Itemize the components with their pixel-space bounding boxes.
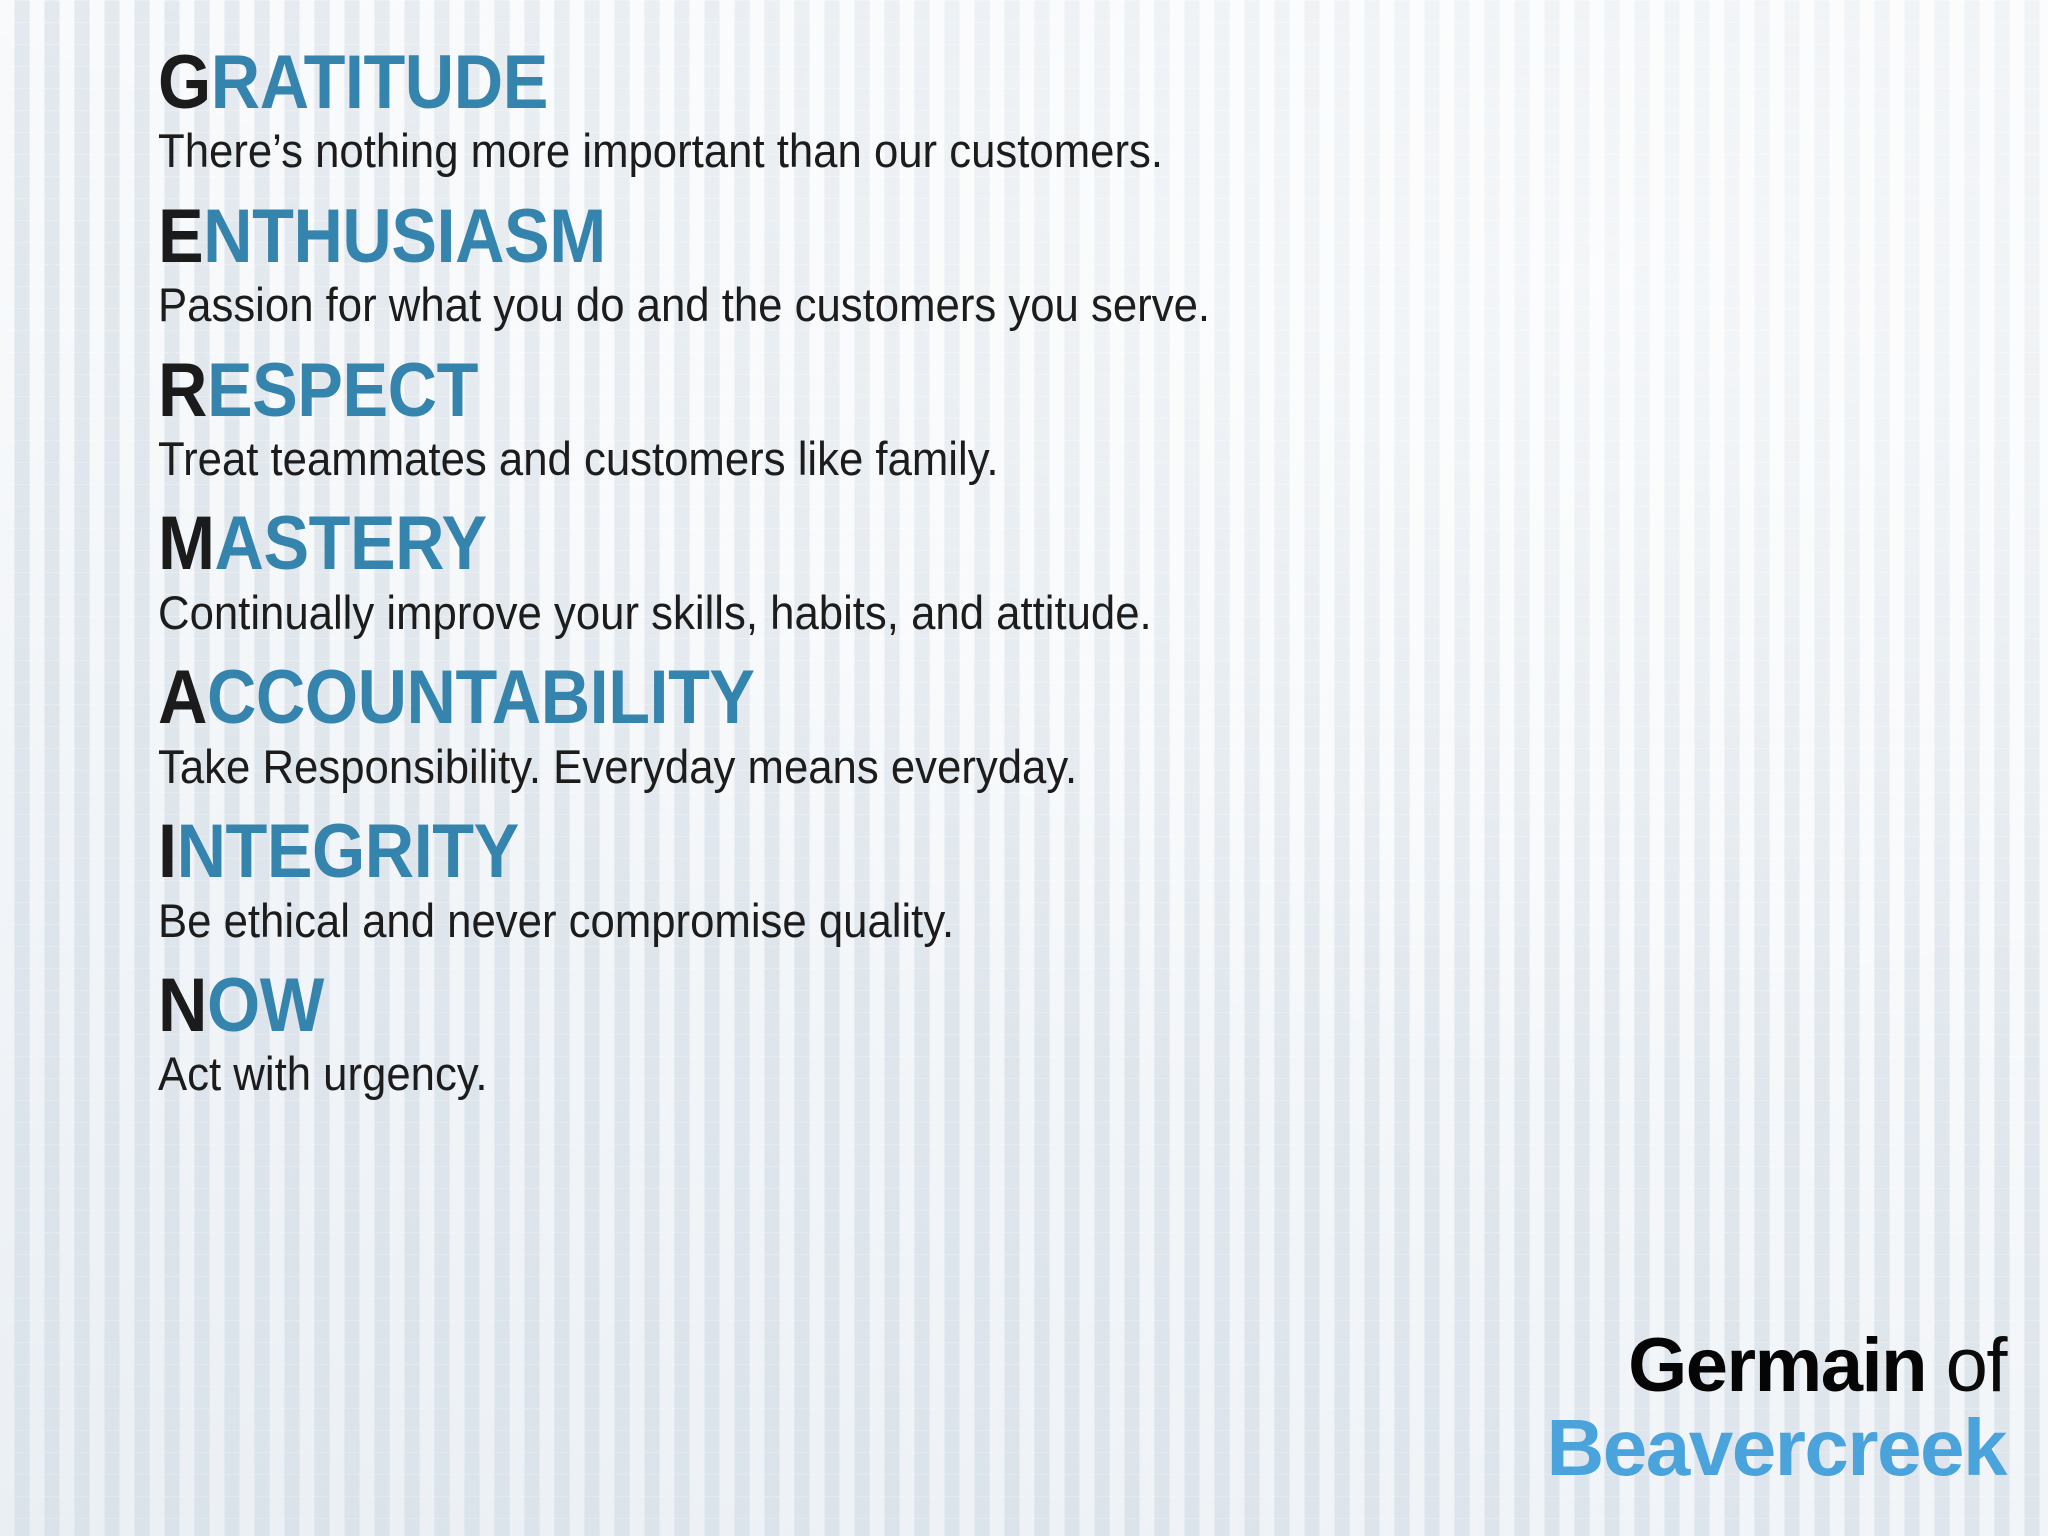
value-heading-now: NOW (158, 969, 1508, 1043)
logo-primary-line: Germain of (1547, 1328, 2006, 1404)
value-item-respect: RESPECT Treat teammates and customers li… (158, 354, 1658, 484)
logo-brand-name: Germain (1628, 1323, 1926, 1408)
value-item-enthusiasm: ENTHUSIASM Passion for what you do and t… (158, 200, 1658, 330)
value-initial-letter: G (158, 40, 211, 125)
value-item-gratitude: GRATITUDE There’s nothing more important… (158, 46, 1658, 176)
logo-connector-word: of (1926, 1323, 2006, 1408)
value-heading-enthusiasm: ENTHUSIASM (158, 200, 1508, 274)
value-heading-respect: RESPECT (158, 354, 1508, 428)
value-remaining-letters: ESPECT (207, 348, 478, 433)
value-description-gratitude: There’s nothing more important than our … (158, 126, 1553, 175)
value-item-integrity: INTEGRITY Be ethical and never compromis… (158, 815, 1658, 945)
value-heading-mastery: MASTERY (158, 507, 1508, 581)
values-poster: GRATITUDE There’s nothing more important… (0, 0, 2048, 1536)
value-remaining-letters: NTHUSIASM (203, 194, 606, 279)
value-remaining-letters: RATITUDE (211, 40, 548, 125)
value-description-mastery: Continually improve your skills, habits,… (158, 588, 1553, 637)
value-item-mastery: MASTERY Continually improve your skills,… (158, 507, 1658, 637)
value-description-now: Act with urgency. (158, 1049, 1553, 1098)
value-item-accountability: ACCOUNTABILITY Take Responsibility. Ever… (158, 661, 1658, 791)
value-initial-letter: N (158, 963, 207, 1048)
dealership-logo: Germain of Beavercreek (1547, 1328, 2006, 1488)
value-description-respect: Treat teammates and customers like famil… (158, 434, 1553, 483)
value-remaining-letters: OW (207, 963, 324, 1048)
value-remaining-letters: CCOUNTABILITY (207, 655, 755, 740)
value-heading-accountability: ACCOUNTABILITY (158, 661, 1508, 735)
value-initial-letter: I (158, 809, 177, 894)
value-initial-letter: A (158, 655, 207, 740)
value-description-integrity: Be ethical and never compromise quality. (158, 896, 1553, 945)
value-remaining-letters: NTEGRITY (177, 809, 519, 894)
value-heading-integrity: INTEGRITY (158, 815, 1508, 889)
core-values-list: GRATITUDE There’s nothing more important… (158, 46, 1658, 1099)
value-description-accountability: Take Responsibility. Everyday means ever… (158, 742, 1553, 791)
value-remaining-letters: ASTERY (215, 501, 487, 586)
value-initial-letter: M (158, 501, 215, 586)
value-initial-letter: R (158, 348, 207, 433)
value-description-enthusiasm: Passion for what you do and the customer… (158, 280, 1553, 329)
logo-location-name: Beavercreek (1547, 1408, 2006, 1488)
value-item-now: NOW Act with urgency. (158, 969, 1658, 1099)
value-initial-letter: E (158, 194, 203, 279)
value-heading-gratitude: GRATITUDE (158, 46, 1508, 120)
